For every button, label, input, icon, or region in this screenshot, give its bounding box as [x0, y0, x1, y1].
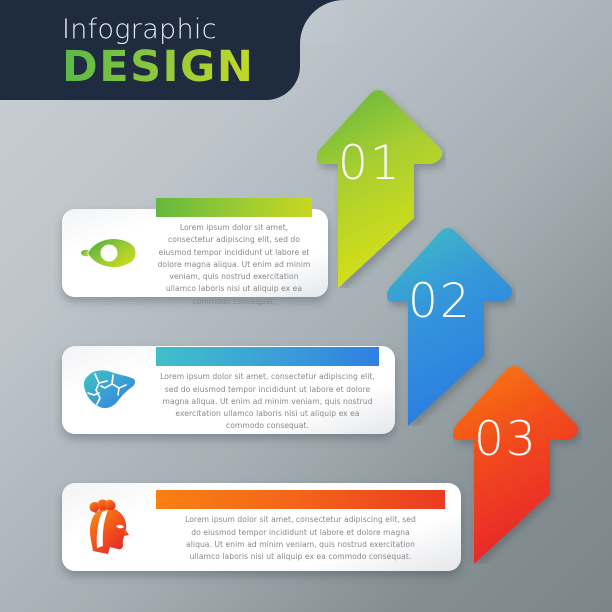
- card-01-text: Lorem ipsum dolor sit amet, consectetur …: [156, 222, 312, 308]
- card-02-icon-slot: [62, 346, 154, 434]
- bandaged-head-icon: [80, 498, 136, 556]
- card-03-title: Lorem ipsum: [156, 490, 445, 509]
- infographic-canvas: 01 02: [0, 0, 612, 612]
- card-02-title: Lorem ipsum: [156, 347, 379, 366]
- liver-organ-icon: [79, 366, 137, 414]
- header-title-block: Infographic DESIGN: [62, 14, 302, 90]
- card-01-icon-slot: [62, 209, 154, 297]
- page-title-line1: Infographic: [62, 14, 302, 45]
- card-02-text: Lorem ipsum dolor sit amet, consectetur …: [156, 371, 379, 432]
- card-03-body: Lorem ipsum Lorem ipsum dolor sit amet, …: [154, 484, 461, 569]
- step-card-02[interactable]: Lorem ipsum Lorem ipsum dolor sit amet, …: [62, 346, 395, 434]
- eye-leaf-icon: [78, 232, 138, 274]
- step-card-01[interactable]: Lorem ipsum Lorem ipsum dolor sit amet, …: [62, 209, 328, 297]
- card-01-body: Lorem ipsum Lorem ipsum dolor sit amet, …: [154, 192, 328, 314]
- card-03-text: Lorem ipsum dolor sit amet, consectetur …: [181, 514, 421, 563]
- header-corner-notch: [300, 0, 344, 44]
- step-arrow-03[interactable]: 03: [452, 364, 582, 564]
- card-03-icon-slot: [62, 483, 154, 571]
- arrow-03-shape: [452, 364, 582, 564]
- card-01-title: Lorem ipsum: [156, 198, 312, 217]
- step-card-03[interactable]: Lorem ipsum Lorem ipsum dolor sit amet, …: [62, 483, 461, 571]
- page-title-line2: DESIGN: [62, 45, 302, 90]
- card-02-body: Lorem ipsum Lorem ipsum dolor sit amet, …: [154, 341, 395, 438]
